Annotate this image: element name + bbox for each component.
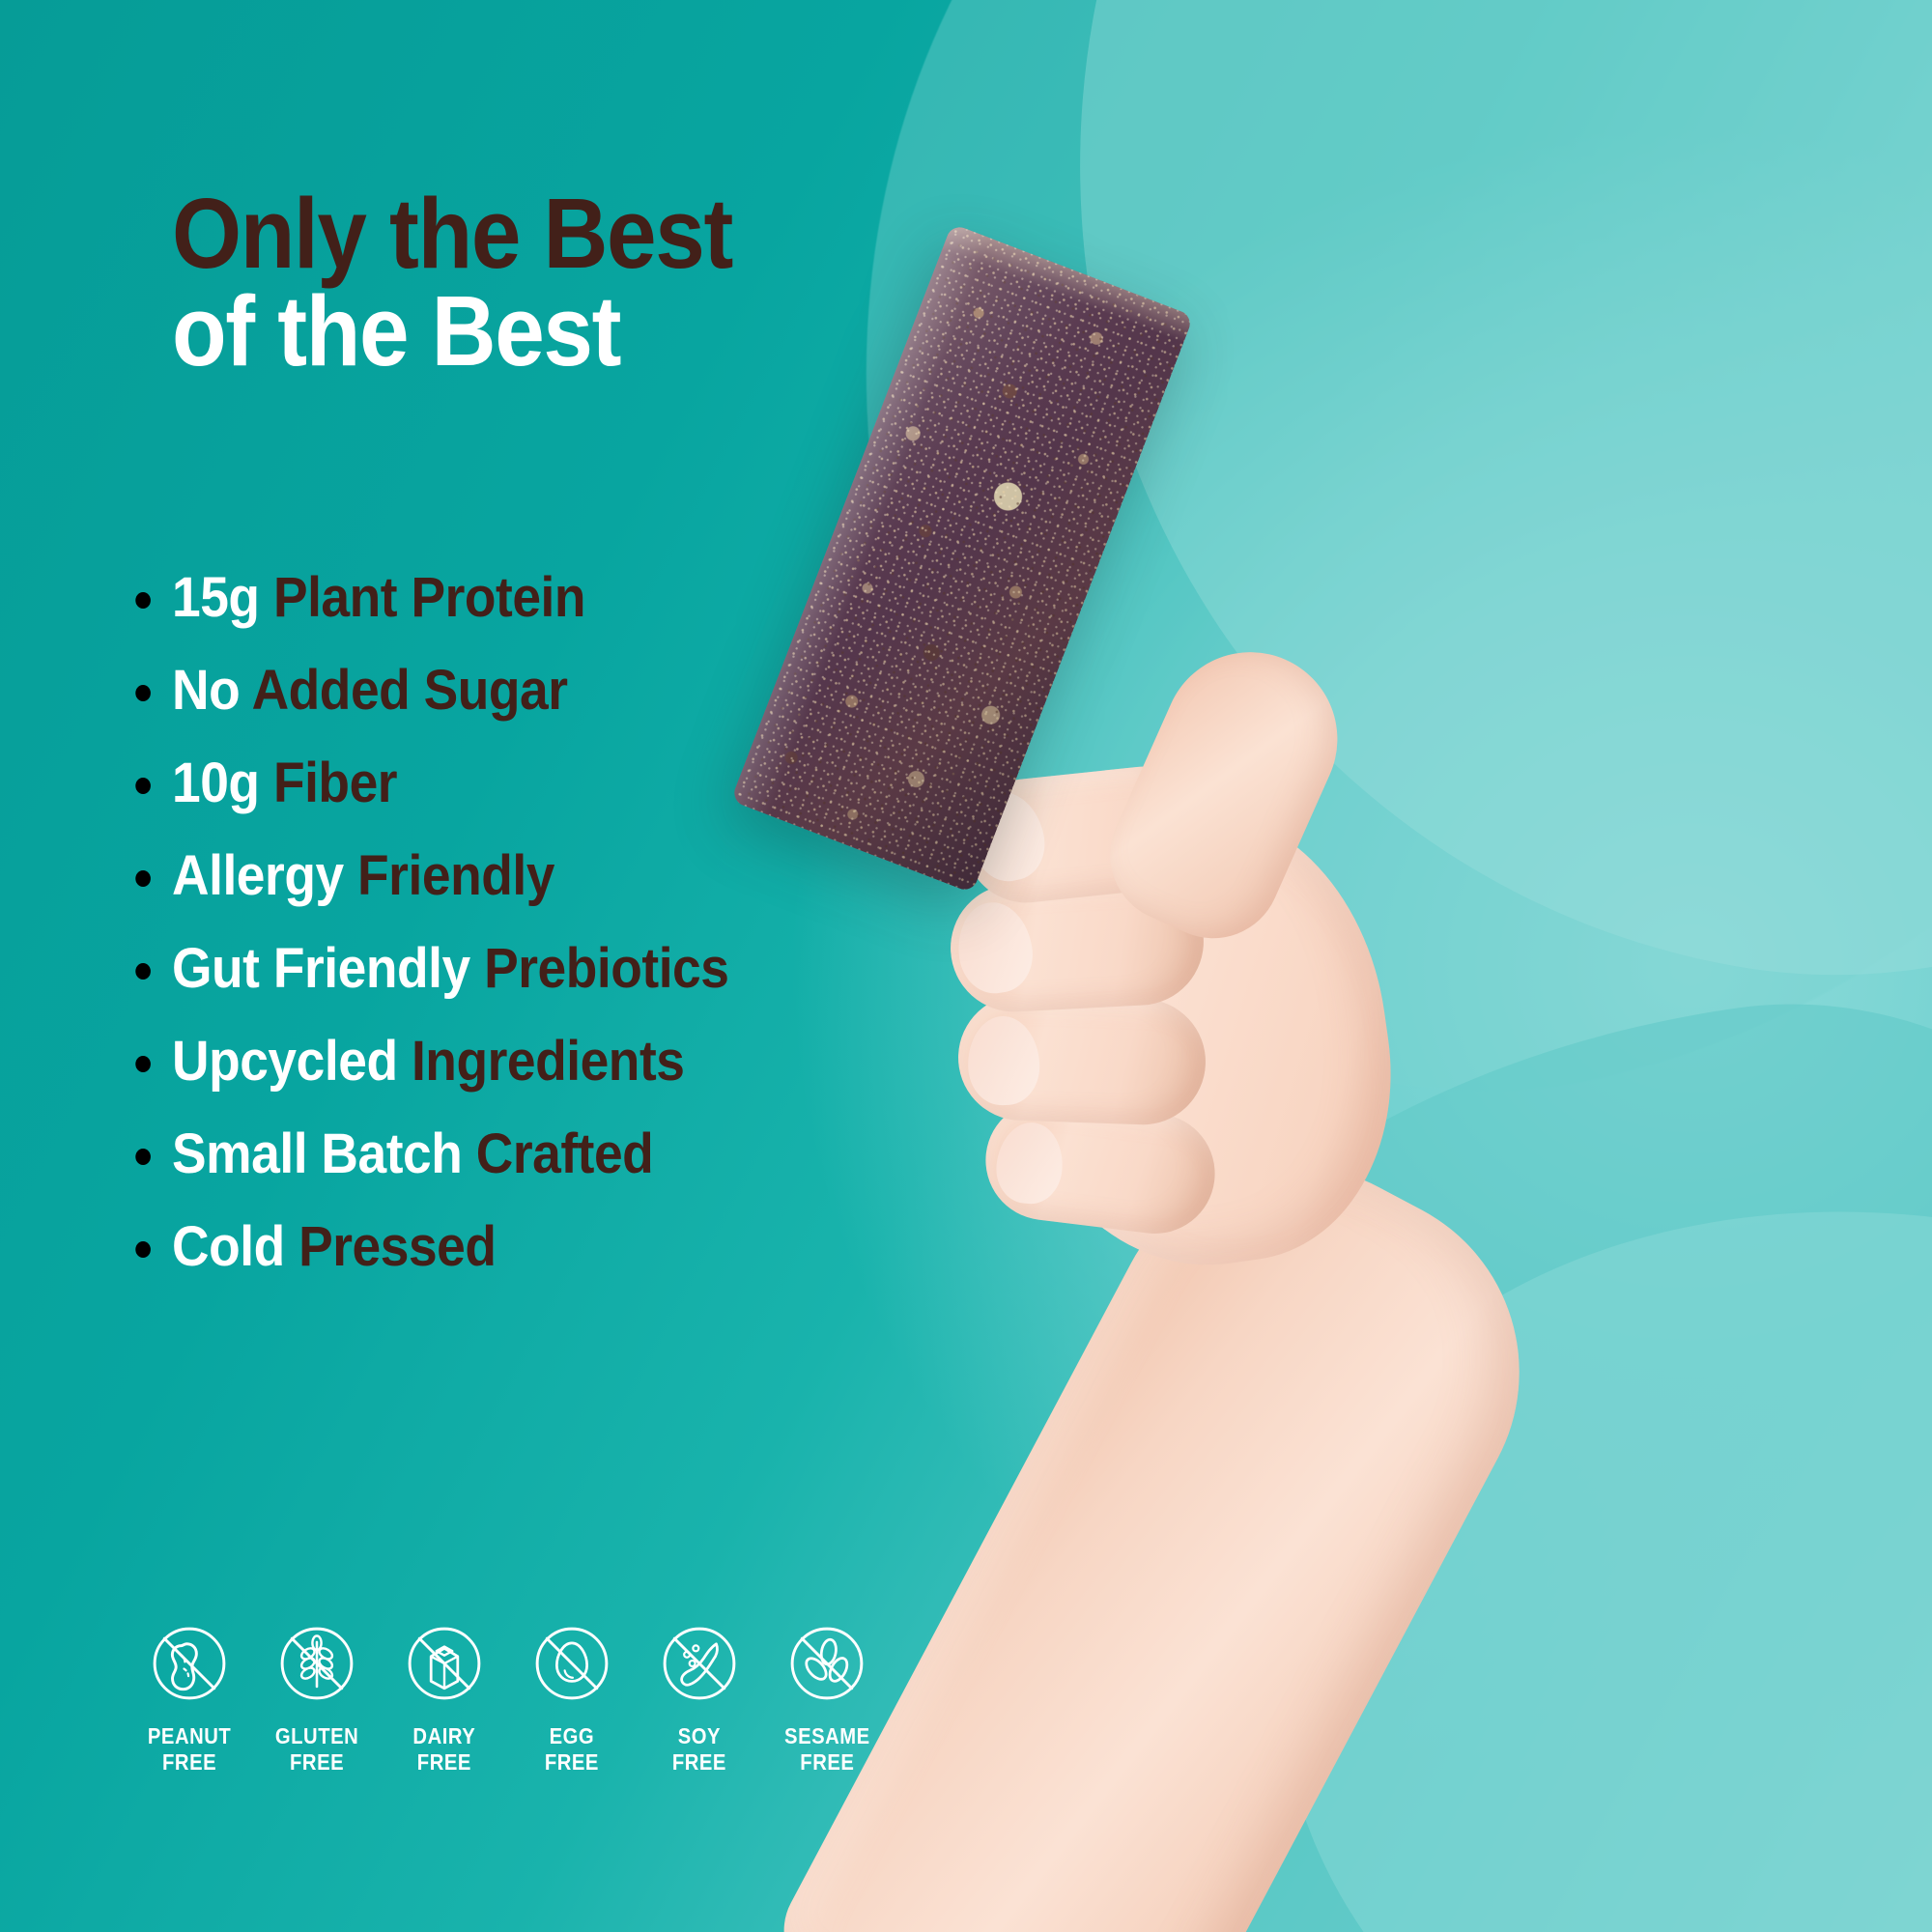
feature-item: Cold Pressed: [172, 1219, 972, 1275]
badge-label: PEANUT FREE: [148, 1723, 231, 1776]
feature-highlight: Small Batch: [172, 1122, 476, 1185]
badge-label: EGG FREE: [545, 1723, 599, 1776]
dairy-free-icon: [400, 1619, 489, 1708]
sesame-free-icon: [782, 1619, 871, 1708]
feature-item: 15g Plant Protein: [172, 570, 972, 626]
feature-rest: Friendly: [357, 844, 554, 907]
badge-peanut-free: PEANUT FREE: [145, 1619, 234, 1776]
badge-label: DAIRY FREE: [413, 1723, 476, 1776]
feature-rest: Added Sugar: [252, 659, 568, 722]
feature-highlight: Upcycled: [172, 1030, 412, 1093]
feature-highlight: Gut Friendly: [172, 937, 484, 1000]
headline-line-2: of the Best: [172, 283, 885, 381]
soy-free-icon: [655, 1619, 744, 1708]
poster-canvas: Only the Best of the Best 15g Plant Prot…: [0, 0, 1932, 1932]
feature-highlight: 15g: [172, 566, 273, 629]
page-title: Only the Best of the Best: [172, 185, 885, 381]
feature-item: Upcycled Ingredients: [172, 1034, 972, 1090]
feature-rest: Plant Protein: [273, 566, 585, 629]
egg-free-icon: [527, 1619, 616, 1708]
gluten-free-icon: [272, 1619, 361, 1708]
feature-rest: Prebiotics: [484, 937, 728, 1000]
badge-gluten-free: GLUTEN FREE: [272, 1619, 361, 1776]
badge-label: GLUTEN FREE: [275, 1723, 358, 1776]
feature-item: 10g Fiber: [172, 755, 972, 811]
feature-item: Gut Friendly Prebiotics: [172, 941, 972, 997]
feature-rest: Ingredients: [412, 1030, 685, 1093]
feature-item: Allergy Friendly: [172, 848, 972, 904]
badge-soy-free: SOY FREE: [655, 1619, 744, 1776]
badge-sesame-free: SESAME FREE: [782, 1619, 871, 1776]
headline-line-1: Only the Best: [172, 185, 885, 283]
feature-highlight: No: [172, 659, 252, 722]
feature-item: Small Batch Crafted: [172, 1126, 972, 1182]
badge-label: SESAME FREE: [784, 1723, 870, 1776]
allergen-badge-row: PEANUT FREE GLUTEN FREE: [145, 1619, 871, 1776]
badge-dairy-free: DAIRY FREE: [400, 1619, 489, 1776]
feature-highlight: Allergy: [172, 844, 357, 907]
feature-rest: Pressed: [298, 1215, 496, 1278]
badge-label: SOY FREE: [672, 1723, 726, 1776]
feature-highlight: Cold: [172, 1215, 298, 1278]
feature-highlight: 10g: [172, 752, 273, 814]
feature-rest: Crafted: [476, 1122, 654, 1185]
peanut-free-icon: [145, 1619, 234, 1708]
feature-item: No Added Sugar: [172, 663, 972, 719]
feature-list: 15g Plant Protein No Added Sugar 10g Fib…: [172, 570, 1041, 1312]
feature-rest: Fiber: [273, 752, 397, 814]
badge-egg-free: EGG FREE: [527, 1619, 616, 1776]
